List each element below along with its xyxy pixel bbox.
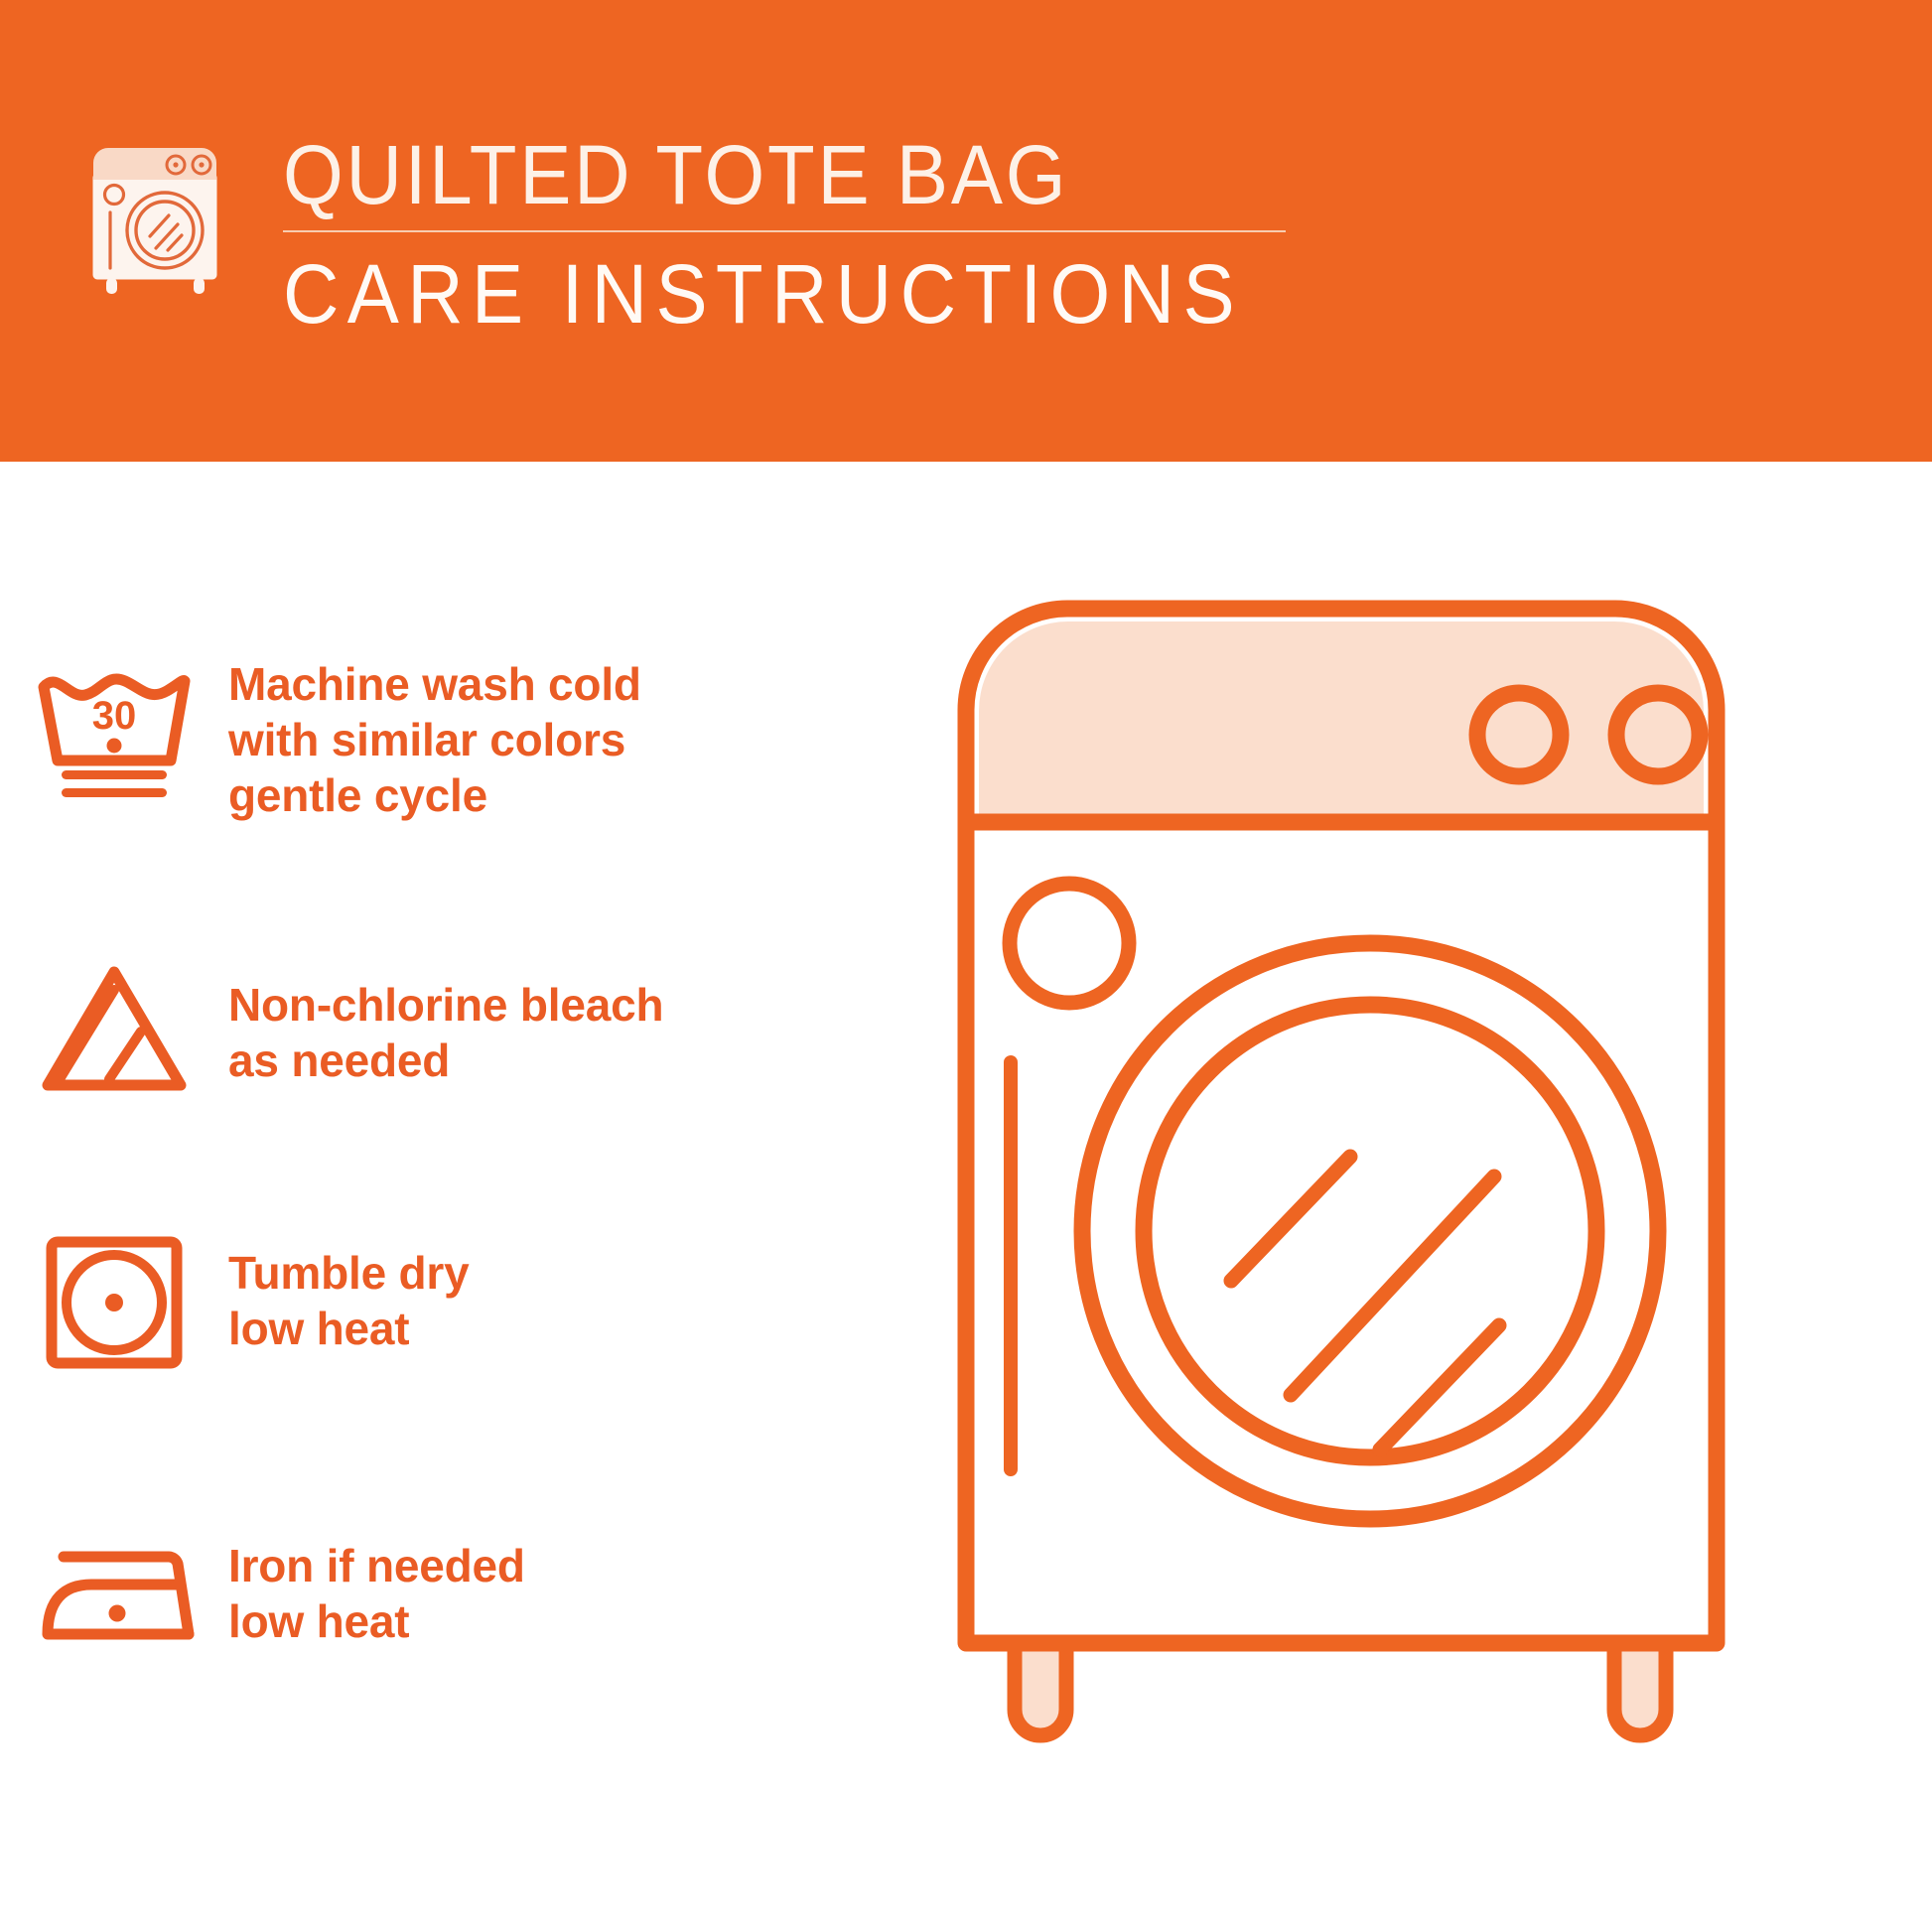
header-text-block: QUILTED TOTE BAG CARE INSTRUCTIONS (283, 129, 1286, 342)
list-item-label: Iron if needed low heat (228, 1538, 525, 1649)
svg-text:30: 30 (92, 694, 137, 738)
page-title: QUILTED TOTE BAG (283, 129, 1215, 220)
list-item: Iron if needed low heat (0, 1494, 953, 1693)
washing-machine-illustration (953, 596, 1906, 1797)
list-item-label: Non-chlorine bleach as needed (228, 977, 663, 1088)
triangle-non-chlorine-bleach-icon (0, 933, 228, 1132)
care-instructions-page: QUILTED TOTE BAG CARE INSTRUCTIONS 30 Ma… (0, 0, 1932, 1932)
list-item: Non-chlorine bleach as needed (0, 933, 953, 1132)
page-subtitle: CARE INSTRUCTIONS (283, 246, 1215, 342)
list-item: Tumble dry low heat (0, 1196, 953, 1405)
list-item-label: Machine wash cold with similar colors ge… (228, 656, 641, 823)
care-instructions-list: 30 Machine wash cold with similar colors… (0, 462, 953, 1932)
header-banner: QUILTED TOTE BAG CARE INSTRUCTIONS (0, 0, 1932, 462)
list-item: 30 Machine wash cold with similar colors… (0, 635, 953, 844)
wash-tub-30-gentle-icon: 30 (0, 635, 228, 844)
list-item-label: Tumble dry low heat (228, 1245, 470, 1356)
title-divider (283, 230, 1286, 232)
iron-low-heat-icon (0, 1494, 228, 1693)
tumble-dry-low-heat-icon (0, 1196, 228, 1405)
washing-machine-icon (84, 137, 233, 296)
